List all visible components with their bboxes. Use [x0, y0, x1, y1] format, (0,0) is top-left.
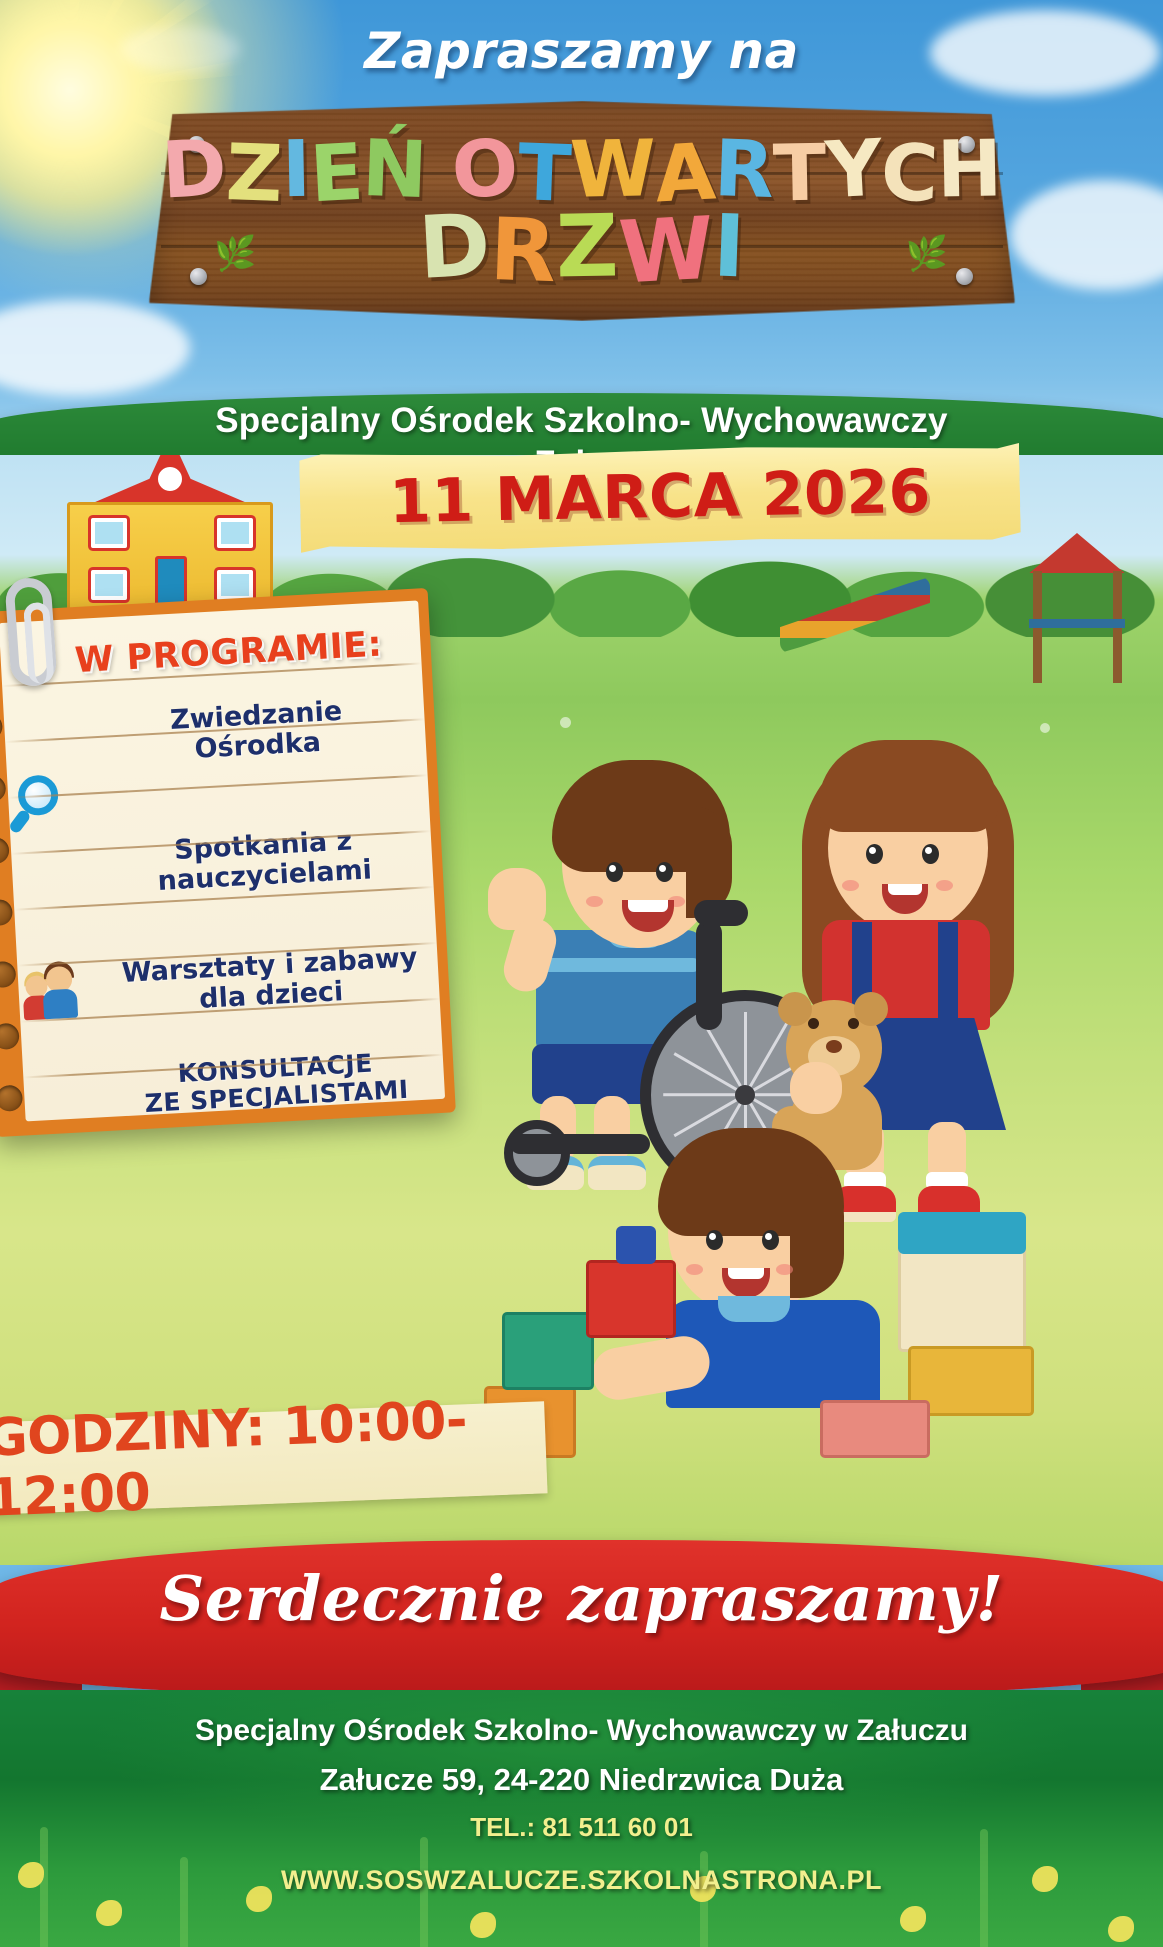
window-shape [91, 570, 127, 600]
flower-shape [900, 1906, 926, 1932]
notepad-paper: W PROGRAMIE: Zwiedzanie Ośrodka Spotkani… [0, 600, 445, 1121]
wooden-sign: 🌿 🌿 DZIEŃ OTWARTYCH DRZWI [152, 100, 1012, 320]
paperclip-icon [4, 577, 57, 688]
girl-cheek [842, 880, 859, 891]
girl-cheek [936, 880, 953, 891]
toy-block [586, 1260, 676, 1338]
title-letter: E [308, 137, 364, 211]
spiral-hole [0, 961, 16, 988]
teddy-ear [854, 992, 888, 1026]
intro-text: Zapraszamy na [0, 22, 1163, 80]
window-shape [217, 518, 253, 548]
title-letter: C [880, 138, 939, 212]
teddy-nose [826, 1040, 842, 1053]
wheelchair-footrest [510, 1134, 650, 1154]
blocks-boy-cheek [686, 1264, 703, 1275]
wheelchair-handle [694, 900, 748, 926]
footer-address: Załucze 59, 24-220 Niedrzwica Duża [0, 1762, 1163, 1798]
blocks-boy-hair-side [790, 1172, 844, 1298]
play-tower-roof [1023, 533, 1131, 573]
spiral-hole [0, 1023, 20, 1050]
blocks-boy-eye [762, 1230, 779, 1250]
blocks-boy-cheek [776, 1264, 793, 1275]
spiral-hole [0, 837, 10, 864]
teddy-ear [778, 992, 812, 1026]
children-illustration [490, 600, 1163, 1300]
toy-block [616, 1226, 656, 1264]
spiral-hole [0, 899, 13, 926]
event-date: 11 MARCA 2026 [299, 441, 1021, 553]
window-shape [91, 518, 127, 548]
boy-shoe [588, 1156, 646, 1190]
invitation-text: Serdecznie zapraszamy! [0, 1562, 1163, 1635]
cloud-shape [1010, 180, 1163, 290]
boy-eye [606, 862, 623, 882]
wheelchair-backrest [696, 920, 722, 1030]
poster-root: Zapraszamy na 🌿 🌿 DZIEŃ OTWARTYCH DRZWI … [0, 0, 1163, 1947]
teddy-eye [848, 1018, 859, 1029]
sign-title-block: DZIEŃ OTWARTYCH DRZWI [152, 100, 1012, 320]
girl-strap [938, 922, 958, 1026]
spiral-hole [0, 713, 3, 740]
title-letter: T [773, 138, 826, 211]
girl-arm [790, 1062, 842, 1114]
flower-shape [1108, 1916, 1134, 1942]
program-item-1: Zwiedzanie Ośrodka [66, 691, 445, 772]
footer-text-block: Specjalny Ośrodek Szkolno- Wychowawczy w… [0, 1690, 1163, 1896]
title-letter: D [160, 133, 227, 208]
title-letter: W [617, 210, 716, 294]
footer-contact: Specjalny Ośrodek Szkolno- Wychowawczy w… [0, 1690, 1163, 1947]
girl-hair-front [818, 740, 998, 832]
window-shape [217, 570, 253, 600]
title-line-2: DRZWI [419, 210, 746, 289]
footer-website[interactable]: WWW.SOSWZALUCZE.SZKOLNASTRONA.PL [0, 1865, 1163, 1896]
program-notepad: W PROGRAMIE: Zwiedzanie Ośrodka Spotkani… [0, 588, 456, 1137]
title-letter: Z [225, 138, 283, 212]
blocks-boy-eye [706, 1230, 723, 1250]
spiral-hole [0, 1085, 23, 1112]
girl-eye [866, 844, 883, 864]
title-letter: R [489, 211, 558, 292]
title-letter: Ń [361, 133, 428, 207]
toy-block [502, 1312, 594, 1390]
toy-block [820, 1400, 930, 1458]
event-hours: GODZINY: 10:00-12:00 [0, 1401, 548, 1514]
boy-cheek [586, 896, 603, 907]
spiral-hole [0, 775, 6, 802]
blocks-boy-collar [718, 1296, 790, 1322]
title-letter: I [281, 134, 310, 206]
flower-shape [96, 1900, 122, 1926]
magnifier-icon [11, 769, 78, 836]
flower-shape [470, 1912, 496, 1938]
title-letter: Y [824, 133, 883, 208]
footer-phone[interactable]: TEL.: 81 511 60 01 [0, 1812, 1163, 1843]
title-letter: I [712, 208, 747, 288]
footer-school-name: Specjalny Ośrodek Szkolno- Wychowawczy w… [0, 1714, 1163, 1748]
clock-icon [155, 464, 185, 494]
title-letter: Z [555, 208, 619, 288]
title-letter: H [937, 134, 1003, 207]
boy-eye [656, 862, 673, 882]
school-name-line-1: Specjalny Ośrodek Szkolno- Wychowawczy [0, 400, 1163, 443]
toy-block-top [898, 1212, 1026, 1254]
girl-eye [922, 844, 939, 864]
teddy-eye [808, 1018, 819, 1029]
title-letter: D [416, 207, 491, 290]
boy-shirt-stripe [542, 958, 700, 972]
